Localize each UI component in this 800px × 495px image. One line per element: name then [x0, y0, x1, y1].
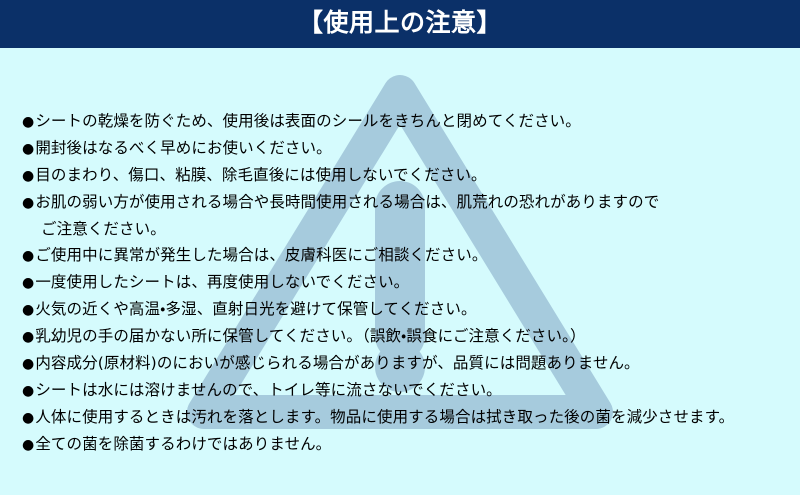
bullet-marker: ● — [22, 114, 35, 130]
notice-item: ●全ての菌を除菌するわけではありません。 — [22, 431, 782, 458]
notice-item: ●人体に使用するときは汚れを落とします。物品に使用する場合は拭き取った後の菌を減… — [22, 404, 782, 431]
notice-list: ●シートの乾燥を防ぐため、使用後は表面のシールをきちんと閉めてください。 ●開封… — [22, 108, 782, 458]
notice-text: 全ての菌を除菌するわけではありません。 — [35, 435, 331, 453]
bullet-marker: ● — [22, 383, 35, 399]
notice-text: ご使用中に異常が発生した場合は、皮膚科医にご相談ください。 — [35, 246, 487, 264]
bullet-marker: ● — [22, 248, 35, 264]
bullet-marker: ● — [22, 356, 35, 372]
notice-text: 火気の近くや高温・多湿、直射日光を避けて保管してください。 — [35, 300, 476, 318]
bullet-marker: ● — [22, 168, 35, 184]
notice-item: ●一度使用したシートは、再度使用しないでください。 — [22, 269, 782, 296]
bullet-marker: ● — [22, 329, 35, 345]
notice-text: 目のまわり、傷口、粘膜、除毛直後には使用しないでください。 — [35, 166, 486, 184]
notice-text: 人体に使用するときは汚れを落とします。物品に使用する場合は拭き取った後の菌を減少… — [35, 408, 734, 426]
notice-item: ●火気の近くや高温・多湿、直射日光を避けて保管してください。 — [22, 296, 782, 323]
header-band: 【使用上の注意】 — [0, 0, 800, 48]
notice-item: ●お肌の弱い方が使用される場合や長時間使用される場合は、肌荒れの恐れがありますの… — [22, 189, 782, 216]
notice-text: シートの乾燥を防ぐため、使用後は表面のシールをきちんと閉めてください。 — [35, 112, 581, 130]
notice-item: ●開封後はなるべく早めにお使いください。 — [22, 135, 782, 162]
notice-text: ご注意ください。 — [41, 220, 166, 238]
notice-text: 開封後はなるべく早めにお使いください。 — [35, 139, 331, 157]
bullet-marker: ● — [22, 195, 35, 211]
bullet-marker: ● — [22, 302, 35, 318]
bullet-marker: ● — [22, 275, 35, 291]
notice-text: シートは水には溶けませんので、トイレ等に流さないでください。 — [35, 381, 501, 399]
notice-item: ●シートは水には溶けませんので、トイレ等に流さないでください。 — [22, 377, 782, 404]
bullet-marker: ● — [22, 437, 35, 453]
notice-item: ●内容成分(原材料)のにおいが感じられる場合がありますが、品質には問題ありません… — [22, 350, 782, 377]
page-title: 【使用上の注意】 — [0, 0, 800, 48]
notice-item: ●シートの乾燥を防ぐため、使用後は表面のシールをきちんと閉めてください。 — [22, 108, 782, 135]
notice-text: 乳幼児の手の届かない所に保管してください。（誤飲・誤食にご注意ください。） — [35, 327, 585, 345]
notice-text: 内容成分(原材料)のにおいが感じられる場合がありますが、品質には問題ありません。 — [35, 354, 639, 372]
bullet-marker: ● — [22, 410, 35, 426]
bullet-marker: ● — [22, 141, 35, 157]
notice-text: 一度使用したシートは、再度使用しないでください。 — [35, 273, 409, 291]
notice-item: ●目のまわり、傷口、粘膜、除毛直後には使用しないでください。 — [22, 162, 782, 189]
precautions-panel: 【使用上の注意】 ●シートの乾燥を防ぐため、使用後は表面のシールをきちんと閉めて… — [0, 0, 800, 495]
notice-item: ●乳幼児の手の届かない所に保管してください。（誤飲・誤食にご注意ください。） — [22, 323, 782, 350]
notice-text: お肌の弱い方が使用される場合や長時間使用される場合は、肌荒れの恐れがありますので — [35, 193, 659, 211]
notice-item: ●ご使用中に異常が発生した場合は、皮膚科医にご相談ください。 — [22, 242, 782, 269]
notice-item-continuation: ご注意ください。 — [22, 216, 782, 242]
